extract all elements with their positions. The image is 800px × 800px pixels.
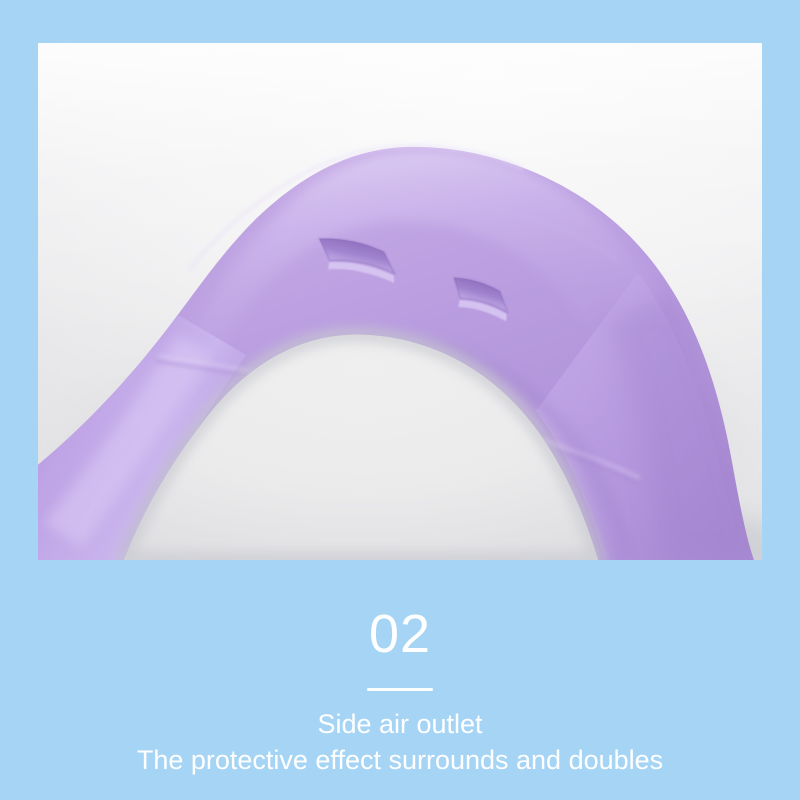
caption-subheadline: The protective effect surrounds and doub…	[0, 742, 800, 778]
caption-divider	[367, 688, 433, 691]
caption-headline: Side air outlet	[0, 706, 800, 742]
product-photo-frame	[38, 43, 762, 560]
step-number: 02	[0, 605, 800, 663]
purple-neck-band-product	[38, 43, 762, 560]
product-feature-card: 02 Side air outlet The protective effect…	[0, 0, 800, 800]
caption-block: 02 Side air outlet The protective effect…	[0, 560, 800, 800]
product-illustration	[38, 43, 762, 560]
